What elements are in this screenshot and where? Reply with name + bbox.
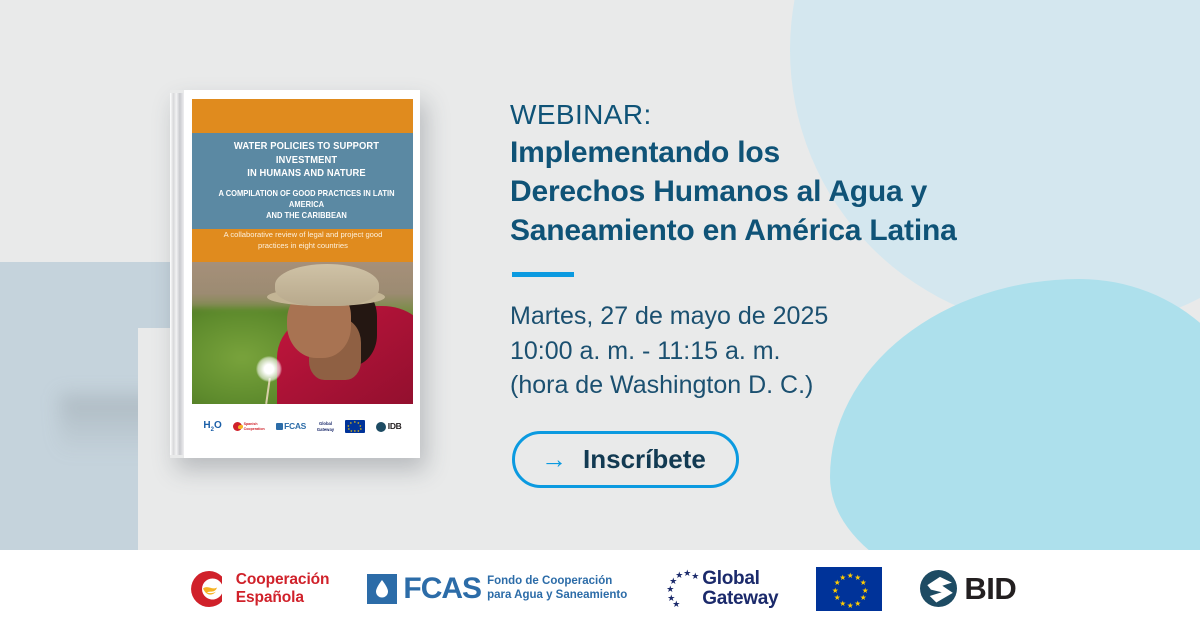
- gg-line-1: Global: [702, 569, 778, 589]
- event-timezone: (hora de Washington D. C.): [510, 368, 1110, 403]
- book-blurb: A collaborative review of legal and proj…: [208, 229, 398, 252]
- global-gateway-logo: ★ ★ ★ ★ ★ ★ ★ Global Gateway: [665, 569, 778, 609]
- headline-line-3: Saneamiento en América Latina: [510, 211, 1110, 250]
- headline-line-1: Implementando los: [510, 133, 1110, 172]
- webinar-promo-banner: WATER POLICIES TO SUPPORT INVESTMENT IN …: [0, 0, 1200, 627]
- content-column: WEBINAR: Implementando los Derechos Huma…: [510, 98, 1110, 488]
- event-datetime: Martes, 27 de mayo de 2025 10:00 a. m. -…: [510, 299, 1110, 403]
- fcas-icon: FCAS: [276, 422, 306, 431]
- book-title: WATER POLICIES TO SUPPORT INVESTMENT IN …: [210, 140, 402, 181]
- book-title-line-2: IN HUMANS AND NATURE: [210, 167, 402, 181]
- global-gateway-icon: Global Gateway: [317, 421, 334, 431]
- idb-label: IDB: [388, 422, 402, 431]
- book-title-band: WATER POLICIES TO SUPPORT INVESTMENT IN …: [192, 133, 413, 229]
- bid-mark-icon: [920, 570, 957, 607]
- coop-line-2: Española: [236, 589, 330, 606]
- idb-mark: [376, 422, 386, 432]
- cooperacion-espanola-logo: Cooperación Española: [184, 567, 330, 611]
- gg-label-line-2: Gateway: [317, 427, 334, 432]
- book-pages-edge: [170, 93, 184, 455]
- water-drop-icon: [367, 574, 397, 604]
- idb-icon: IDB: [376, 422, 402, 432]
- book-mockup: WATER POLICIES TO SUPPORT INVESTMENT IN …: [170, 90, 420, 458]
- photo-dandelion: [256, 356, 282, 382]
- book-cover-inner: WATER POLICIES TO SUPPORT INVESTMENT IN …: [192, 99, 413, 449]
- global-gateway-stars-icon: ★ ★ ★ ★ ★ ★ ★: [665, 569, 699, 609]
- footer-logo-band: Cooperación Española FCAS Fondo de Coope…: [0, 550, 1200, 627]
- cooperacion-espanola-icon: Spanish Cooperation: [233, 422, 265, 431]
- fcas-tagline-line-2: para Agua y Saneamiento: [487, 589, 627, 603]
- headline-line-2: Derechos Humanos al Agua y: [510, 172, 1110, 211]
- european-union-flag: ★ ★ ★ ★ ★ ★ ★ ★ ★ ★ ★ ★: [816, 567, 882, 611]
- cooperacion-c-icon: [184, 567, 228, 611]
- footer-logos: Cooperación Española FCAS Fondo de Coope…: [184, 567, 1016, 611]
- register-button-label: Inscríbete: [583, 446, 706, 472]
- fcas-tagline: Fondo de Cooperación para Agua y Saneami…: [487, 575, 627, 602]
- fcas-logo: FCAS Fondo de Cooperación para Agua y Sa…: [367, 574, 627, 604]
- gg-line-2: Gateway: [702, 589, 778, 609]
- fcas-drop-mark: [276, 423, 283, 430]
- european-union-flag-icon: ★ ★ ★ ★ ★ ★ ★ ★ ★ ★: [345, 420, 365, 433]
- kicker: WEBINAR:: [510, 98, 1110, 131]
- book-cover: WATER POLICIES TO SUPPORT INVESTMENT IN …: [184, 90, 420, 458]
- coop-label-line-2: Cooperation: [244, 427, 265, 431]
- global-gateway-label: Global Gateway: [702, 569, 778, 609]
- coop-c-mark: [233, 422, 242, 431]
- fcas-tagline-line-1: Fondo de Cooperación: [487, 575, 627, 589]
- event-date: Martes, 27 de mayo de 2025: [510, 299, 1110, 334]
- fcas-wordmark: FCAS: [403, 574, 481, 604]
- bid-logo: BID: [920, 570, 1016, 607]
- book-title-line-1: WATER POLICIES TO SUPPORT INVESTMENT: [210, 140, 402, 167]
- event-time: 10:00 a. m. - 11:15 a. m.: [510, 334, 1110, 369]
- book-subtitle: A COMPILATION OF GOOD PRACTICES IN LATIN…: [210, 188, 402, 221]
- book-subtitle-line-2: AND THE CARIBBEAN: [210, 210, 402, 221]
- accent-rule: [512, 272, 574, 277]
- bid-wordmark: BID: [964, 573, 1016, 604]
- cooperacion-espanola-label: Cooperación Española: [236, 571, 330, 606]
- h2o-icon: H2O: [203, 421, 221, 433]
- fcas-label: FCAS: [284, 422, 306, 431]
- page-title: Implementando los Derechos Humanos al Ag…: [510, 133, 1110, 250]
- photo-hat: [275, 264, 379, 306]
- coop-label: Spanish Cooperation: [244, 422, 265, 430]
- book-cover-photo: [192, 262, 413, 404]
- coop-line-1: Cooperación: [236, 571, 330, 588]
- arrow-right-icon: →: [541, 446, 567, 472]
- register-button[interactable]: → Inscríbete: [512, 431, 739, 488]
- book-subtitle-line-1: A COMPILATION OF GOOD PRACTICES IN LATIN…: [210, 188, 402, 210]
- book-cover-logo-bar: H2O Spanish Cooperation FCAS Global: [192, 404, 413, 449]
